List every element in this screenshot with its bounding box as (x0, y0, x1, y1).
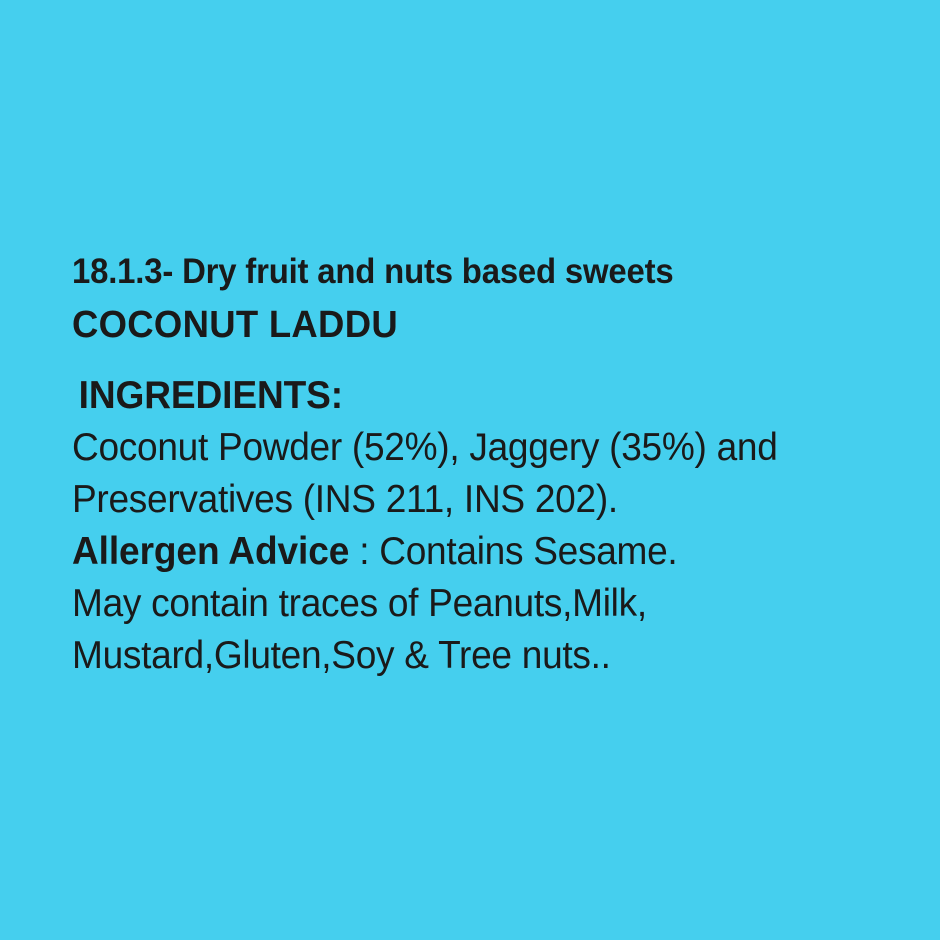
product-name: COCONUT LADDU (72, 298, 894, 352)
ingredients-heading: INGREDIENTS: (72, 370, 885, 422)
may-contain-line-2: Mustard,Gluten,Soy & Tree nuts.. (72, 630, 885, 682)
label-text-block: 18.1.3- Dry fruit and nuts based sweets … (72, 246, 928, 682)
ingredients-line-1: Coconut Powder (52%), Jaggery (35%) and (72, 422, 885, 474)
may-contain-line-1: May contain traces of Peanuts,Milk, (72, 578, 885, 630)
allergen-advice-label: Allergen Advice (72, 530, 349, 573)
title-group: 18.1.3- Dry fruit and nuts based sweets … (72, 246, 928, 352)
allergen-advice-line: Allergen Advice : Contains Sesame. (72, 526, 885, 578)
ingredients-line-2: Preservatives (INS 211, INS 202). (72, 474, 885, 526)
category-code-line: 18.1.3- Dry fruit and nuts based sweets (72, 246, 877, 298)
allergen-advice-value: : Contains Sesame. (349, 530, 677, 573)
ingredients-group: INGREDIENTS: Coconut Powder (52%), Jagge… (72, 370, 928, 682)
food-label-card: 18.1.3- Dry fruit and nuts based sweets … (0, 0, 940, 940)
